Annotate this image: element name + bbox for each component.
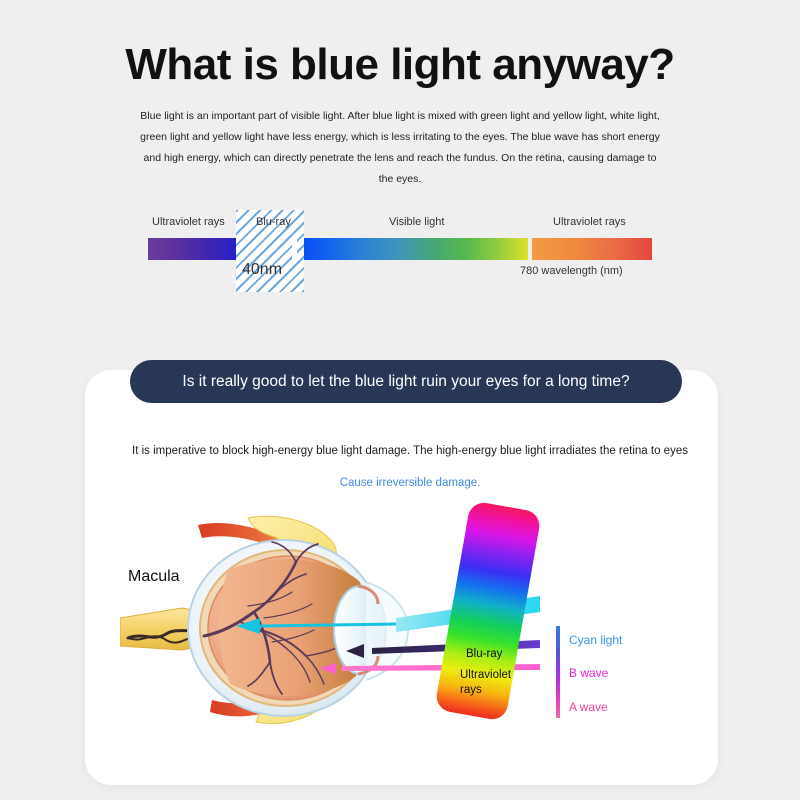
legend-gradient-bar [556,626,560,718]
spectrum-label-visible-light: Visible light [389,216,444,228]
intro-paragraph: Blue light is an important part of visib… [135,106,665,190]
spectrum-uv-right-bar [532,238,652,260]
card-text-line-2: Cause irreversible damage. [110,477,710,489]
question-banner-text: Is it really good to let the blue light … [182,373,629,391]
macula-label: Macula [128,568,180,586]
rainbow-label-ultraviolet-line1: Ultraviolet [460,668,511,683]
rainbow-label-blu-ray: Blu-ray [466,648,502,660]
spectrum-diagram: Ultraviolet rays Blu-ray Visible light U… [148,208,652,300]
spectrum-label-blu-ray: Blu-ray [256,216,291,228]
infographic-page: What is blue light anyway? Blue light is… [0,0,800,800]
rainbow-label-ultraviolet-line2: rays [460,683,511,698]
legend-item-a-wave: A wave [569,700,608,714]
legend-item-b-wave: B wave [569,666,608,680]
blu-ray-notch [292,238,297,260]
spectrum-label-wavelength: 780 wavelength (nm) [520,265,623,277]
question-banner: Is it really good to let the blue light … [130,360,682,403]
spectrum-label-uv-left: Ultraviolet rays [152,216,225,228]
spectrum-label-bandwidth: 40nm [242,261,282,279]
spectrum-label-uv-right: Ultraviolet rays [553,216,626,228]
page-title: What is blue light anyway? [0,40,800,90]
card-text-line-1: It is imperative to block high-energy bl… [110,445,710,457]
rainbow-label-ultraviolet: Ultraviolet rays [460,668,511,698]
spectrum-bar-gap [528,238,532,260]
cyan-ray-tail [260,624,396,626]
legend-item-cyan-light: Cyan light [569,633,622,647]
